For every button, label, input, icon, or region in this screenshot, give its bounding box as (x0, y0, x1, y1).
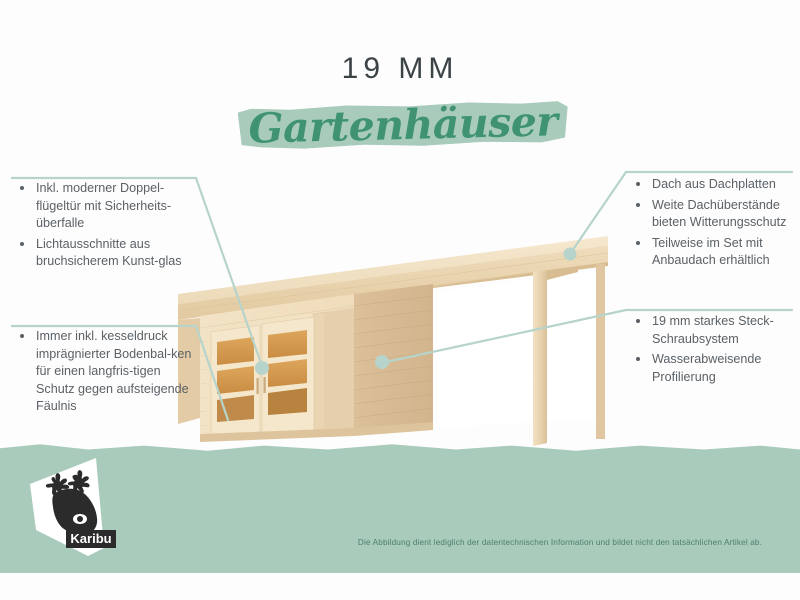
list-item-label: Teilweise im Set mit Anbaudach erhältlic… (652, 236, 770, 268)
list-item: Inkl. moderner Doppel-flügeltür mit Sich… (14, 180, 194, 233)
infographic-canvas: 19 MM Gartenhäuser Inkl. moderner Doppel… (0, 0, 800, 600)
callout-top-left: Inkl. moderner Doppel-flügeltür mit Sich… (14, 180, 194, 274)
list-item: 19 mm starkes Steck-Schraubsystem (630, 313, 800, 348)
page-title: Gartenhäuser (237, 93, 568, 157)
title-brush-wrap: Gartenhäuser (238, 97, 568, 155)
list-item: Dach aus Dachplatten (630, 176, 800, 194)
headline-kicker: 19 MM (0, 52, 800, 86)
list-item-label: Wasserabweisende Profilierung (652, 352, 761, 384)
karibu-logo-mark: Karibu (22, 452, 126, 556)
callout-list: Immer inkl. kesseldruck imprägnierter Bo… (14, 328, 194, 416)
callout-bottom-right: 19 mm starkes Steck-Schraubsystem Wasser… (630, 313, 800, 389)
list-item: Teilweise im Set mit Anbaudach erhältlic… (630, 235, 800, 270)
callout-bottom-left: Immer inkl. kesseldruck imprägnierter Bo… (14, 328, 194, 419)
list-item-label: 19 mm starkes Steck-Schraubsystem (652, 314, 774, 346)
garden-house-illustration (178, 228, 608, 460)
logo-wordmark: Karibu (70, 531, 111, 546)
bullet-icon (636, 319, 640, 323)
callout-top-right: Dach aus Dachplatten Weite Dachüberständ… (630, 176, 800, 273)
list-item-label: Inkl. moderner Doppel-flügeltür mit Sich… (36, 181, 171, 230)
bullet-icon (636, 241, 640, 245)
karibu-logo: Karibu (22, 452, 126, 556)
bullet-icon (20, 186, 24, 190)
callout-list: Inkl. moderner Doppel-flügeltür mit Sich… (14, 180, 194, 271)
list-item-label: Dach aus Dachplatten (652, 177, 776, 191)
callout-list: Dach aus Dachplatten Weite Dachüberständ… (630, 176, 800, 270)
list-item: Weite Dachüberstände bieten Witterungssc… (630, 197, 800, 232)
list-item: Wasserabweisende Profilierung (630, 351, 800, 386)
list-item-label: Immer inkl. kesseldruck imprägnierter Bo… (36, 329, 191, 413)
list-item: Immer inkl. kesseldruck imprägnierter Bo… (14, 328, 194, 416)
bullet-icon (20, 242, 24, 246)
bullet-icon (636, 357, 640, 361)
bullet-icon (636, 182, 640, 186)
list-item-label: Weite Dachüberstände bieten Witterungssc… (652, 198, 786, 230)
bullet-icon (20, 334, 24, 338)
list-item: Lichtausschnitte aus bruchsicherem Kunst… (14, 236, 194, 271)
list-item-label: Lichtausschnitte aus bruchsicherem Kunst… (36, 237, 182, 269)
callout-list: 19 mm starkes Steck-Schraubsystem Wasser… (630, 313, 800, 386)
bullet-icon (636, 203, 640, 207)
disclaimer-text: Die Abbildung dient lediglich der datent… (330, 538, 790, 547)
